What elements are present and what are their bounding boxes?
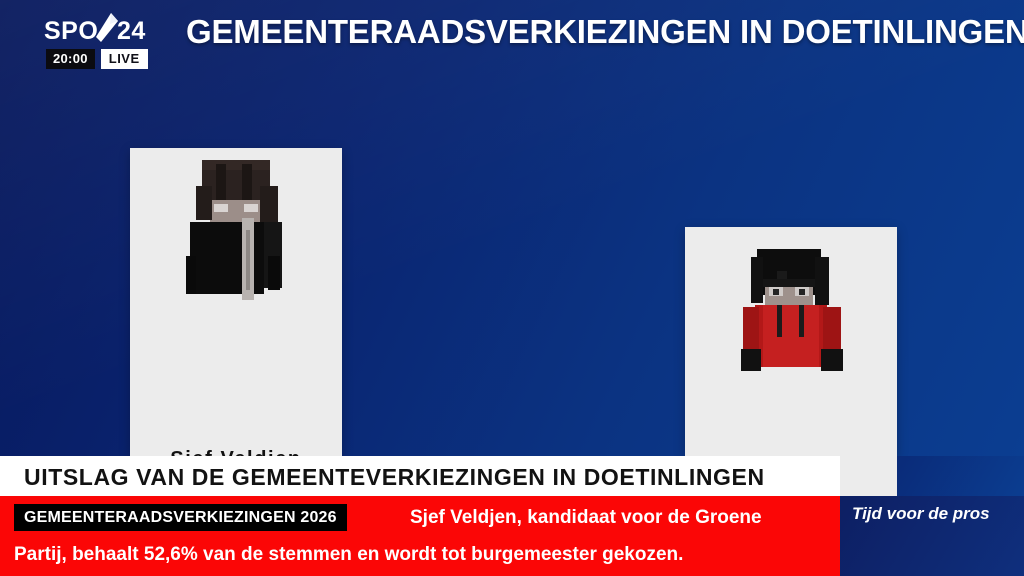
result-title-text: UITSLAG VAN DE GEMEENTEVERKIEZINGEN IN D… [24, 464, 765, 490]
candidate-card-1[interactable]: Sjef Veldjen 52.6% [130, 148, 342, 456]
minecraft-avatar-red-hoodie-icon [733, 249, 851, 371]
time-badge: 20:00 [46, 49, 95, 69]
ticker-line-2: Partij, behaalt 52,6% van de stemmen en … [14, 542, 683, 567]
news-ticker: GEMEENTERAADSVERKIEZINGEN 2026 Sjef Veld… [0, 496, 840, 576]
minecraft-avatar-dark-jacket-icon [176, 160, 296, 300]
result-title-bar: UITSLAG VAN DE GEMEENTEVERKIEZINGEN IN D… [0, 456, 840, 496]
side-note-panel: Tijd voor de pros [840, 496, 1024, 576]
status-badges: 20:00 LIVE [46, 49, 148, 69]
logo-wordmark: SPO 24 [44, 16, 162, 46]
shuttlecock-icon [91, 12, 119, 44]
logo-suffix-text: 24 [117, 16, 146, 46]
candidate-card-2-bottom-strip [840, 456, 897, 496]
side-note-text: Tijd voor de pros [852, 502, 1012, 526]
page-title: GEMEENTERAADSVERKIEZINGEN IN DOETINLINGE… [186, 11, 1016, 53]
ticker-tag: GEMEENTERAADSVERKIEZINGEN 2026 [14, 504, 347, 531]
live-badge: LIVE [101, 49, 148, 69]
candidate-card-2[interactable]: Stijn Hoentjen 26.3% [685, 227, 897, 456]
ticker-line-1: Sjef Veldjen, kandidaat voor de Groene [410, 505, 762, 530]
header: SPO 24 20:00 LIVE GEMEENTERAADSVERKIEZIN… [0, 0, 1024, 88]
channel-logo[interactable]: SPO 24 20:00 LIVE [44, 16, 162, 74]
broadcast-graphic: SPO 24 20:00 LIVE GEMEENTERAADSVERKIEZIN… [0, 0, 1024, 576]
